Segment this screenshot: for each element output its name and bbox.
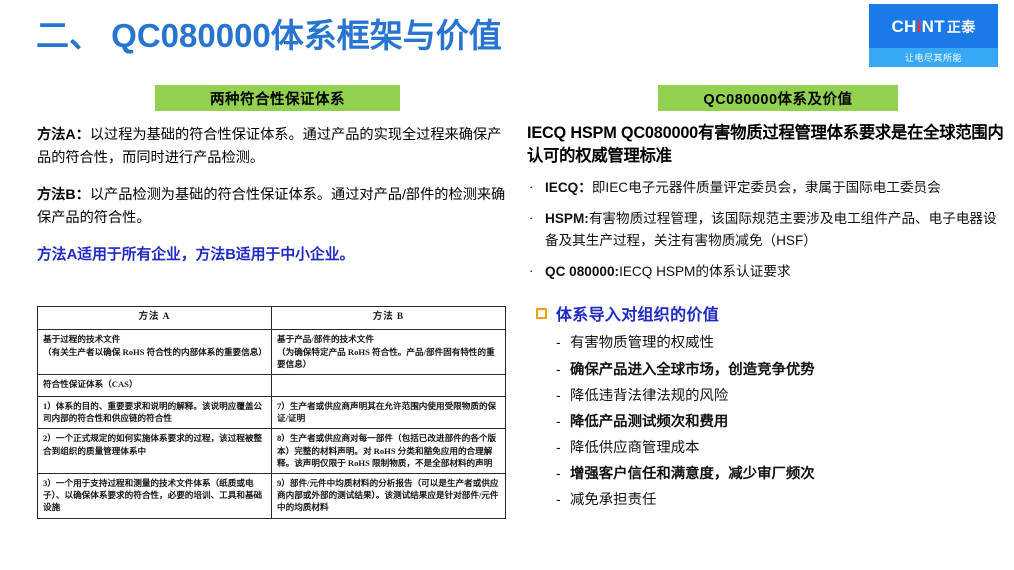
value-item-label: 降低产品测试频次和费用 [570, 410, 728, 434]
logo-primary-block: CHiNT正泰 [869, 4, 998, 48]
table-body: 方法 A 方法 B 基于过程的技术文件（有关生产者以确保 RoHS 符合性的内部… [38, 307, 506, 519]
logo-tagline: 让电尽其所能 [905, 51, 962, 64]
table-header-row: 方法 A 方法 B [38, 307, 506, 330]
square-bullet-icon [536, 308, 547, 319]
list-item: - 减免承担责任 [556, 488, 1005, 512]
method-b-text: 以产品检测为基础的符合性保证体系。通过对产品/部件的检测来确保产品的符合性。 [37, 187, 505, 226]
dash-icon: - [556, 331, 570, 355]
dash-icon: - [556, 462, 570, 486]
list-item: - 降低供应商管理成本 [556, 436, 1005, 460]
section-badge-left: 两种符合性保证体系 [155, 85, 400, 111]
list-item: - 有害物质管理的权威性 [556, 331, 1005, 355]
table-cell-a: 2）一个正式规定的如何实施体系要求的过程，该过程被整合到组织的质量管理体系中 [38, 429, 272, 474]
logo-latin-1: CH [891, 17, 916, 36]
bullet-body: 有害物质过程管理，该国际规范主要涉及电工组件产品、电子电器设备及其生产过程，关注… [545, 211, 997, 248]
table-cell-b: 7）生产者或供应商声明其在允许范围内使用受限物质的保证/证明 [272, 396, 506, 428]
list-item: · QC 080000:IECQ HSPM的体系认证要求 [527, 261, 1005, 283]
logo-wordmark: CHiNT正泰 [891, 18, 975, 35]
value-item-label: 降低供应商管理成本 [570, 436, 700, 460]
dash-icon: - [556, 358, 570, 382]
list-item: - 降低产品测试频次和费用 [556, 410, 1005, 434]
table-cell-a: 基于过程的技术文件（有关生产者以确保 RoHS 符合性的内部体系的重要信息） [38, 330, 272, 375]
logo-chinese: 正泰 [947, 19, 976, 35]
methods-comparison-table: 方法 A 方法 B 基于过程的技术文件（有关生产者以确保 RoHS 符合性的内部… [37, 306, 506, 519]
right-content-column: IECQ HSPM QC080000有害物质过程管理体系要求是在全球范围内认可的… [527, 122, 1005, 515]
right-column-heading: IECQ HSPM QC080000有害物质过程管理体系要求是在全球范围内认可的… [527, 122, 1005, 168]
section-badge-right-label: QC080000体系及价值 [703, 88, 852, 109]
paragraph-method-b: 方法B：以产品检测为基础的符合性保证体系。通过对产品/部件的检测来确保产品的符合… [37, 184, 507, 230]
value-item-label: 有害物质管理的权威性 [570, 331, 714, 355]
table-cell-b [272, 374, 506, 396]
bullet-dot-icon: · [527, 177, 545, 197]
table-row: 2）一个正式规定的如何实施体系要求的过程，该过程被整合到组织的质量管理体系中 8… [38, 429, 506, 474]
methods-applicability-note: 方法A适用于所有企业，方法B适用于中小企业。 [37, 244, 507, 268]
table-header-cell-b: 方法 B [272, 307, 506, 330]
table-cell-a: 3）一个用于支持过程和测量的技术文件体系（纸质或电子）、以确保体系要求的符合性，… [38, 473, 272, 518]
table-cell-b: 8）生产者或供应商对每一部件（包括已改进部件的各个版本）完整的材料声明。对 Ro… [272, 429, 506, 474]
bullet-label: IECQ： [545, 180, 592, 195]
bullet-dot-icon: · [527, 261, 545, 281]
dash-icon: - [556, 410, 570, 434]
table-row: 1）体系的目的、重要要求和说明的解释。该说明应覆盖公司内部的符合性和供应链的符合… [38, 396, 506, 428]
value-block-title: 体系导入对组织的价值 [556, 301, 719, 325]
table-cell-b: 9）部件/元件中均质材料的分析报告（可以是生产者或供应商内部或外部的测试结果）。… [272, 473, 506, 518]
dash-icon: - [556, 488, 570, 512]
table-row: 基于过程的技术文件（有关生产者以确保 RoHS 符合性的内部体系的重要信息） 基… [38, 330, 506, 375]
value-block: 体系导入对组织的价值 - 有害物质管理的权威性 - 确保产品进入全球市场，创造竞… [527, 301, 1005, 512]
bullet-label: HSPM: [545, 211, 589, 226]
dash-icon: - [556, 436, 570, 460]
list-item: - 降低违背法律法规的风险 [556, 384, 1005, 408]
value-item-label: 减免承担责任 [570, 488, 656, 512]
section-badge-right: QC080000体系及价值 [658, 85, 898, 111]
table-header-cell-a: 方法 A [38, 307, 272, 330]
bullet-label: QC 080000: [545, 264, 619, 279]
left-content-column: 方法A：以过程为基础的符合性保证体系。通过产品的实现全过程来确保产品的符合性，而… [37, 124, 507, 268]
method-a-text: 以过程为基础的符合性保证体系。通过产品的实现全过程来确保产品的符合性，而同时进行… [37, 127, 501, 166]
bullet-content: HSPM:有害物质过程管理，该国际规范主要涉及电工组件产品、电子电器设备及其生产… [545, 208, 1005, 252]
value-item-label: 增强客户信任和满意度，减少审厂频次 [570, 462, 815, 486]
list-item: - 确保产品进入全球市场，创造竞争优势 [556, 358, 1005, 382]
page-title: 二、 QC080000体系框架与价值 [36, 16, 502, 56]
table-cell-a: 1）体系的目的、重要要求和说明的解释。该说明应覆盖公司内部的符合性和供应链的符合… [38, 396, 272, 428]
table-row: 3）一个用于支持过程和测量的技术文件体系（纸质或电子）、以确保体系要求的符合性，… [38, 473, 506, 518]
value-item-label: 降低违背法律法规的风险 [570, 384, 728, 408]
table-cell-b: 基于产品/部件的技术文件（为确保特定产品 RoHS 符合性。产品/部件固有特性的… [272, 330, 506, 375]
dash-icon: - [556, 384, 570, 408]
table-cell-a: 符合性保证体系（CAS） [38, 374, 272, 396]
logo-tagline-block: 让电尽其所能 [869, 48, 998, 67]
table-row: 符合性保证体系（CAS） [38, 374, 506, 396]
bullet-content: IECQ：即IEC电子元器件质量评定委员会，隶属于国际电工委员会 [545, 177, 1005, 199]
bullet-content: QC 080000:IECQ HSPM的体系认证要求 [545, 261, 1005, 283]
bullet-dot-icon: · [527, 208, 545, 228]
slide-root: CHiNT正泰 让电尽其所能 二、 QC080000体系框架与价值 两种符合性保… [0, 0, 1014, 570]
value-title-row: 体系导入对组织的价值 [527, 301, 1005, 325]
method-b-label: 方法B： [37, 187, 90, 203]
list-item: · IECQ：即IEC电子元器件质量评定委员会，隶属于国际电工委员会 [527, 177, 1005, 199]
brand-logo: CHiNT正泰 让电尽其所能 [869, 4, 998, 67]
bullet-body: 即IEC电子元器件质量评定委员会，隶属于国际电工委员会 [592, 180, 941, 195]
list-item: - 增强客户信任和满意度，减少审厂频次 [556, 462, 1005, 486]
bullet-body: IECQ HSPM的体系认证要求 [619, 264, 790, 279]
section-badge-left-label: 两种符合性保证体系 [210, 88, 345, 109]
list-item: · HSPM:有害物质过程管理，该国际规范主要涉及电工组件产品、电子电器设备及其… [527, 208, 1005, 252]
method-a-label: 方法A： [37, 127, 90, 143]
value-item-label: 确保产品进入全球市场，创造竞争优势 [570, 358, 815, 382]
logo-latin-2: NT [922, 17, 945, 36]
paragraph-method-a: 方法A：以过程为基础的符合性保证体系。通过产品的实现全过程来确保产品的符合性，而… [37, 124, 507, 170]
